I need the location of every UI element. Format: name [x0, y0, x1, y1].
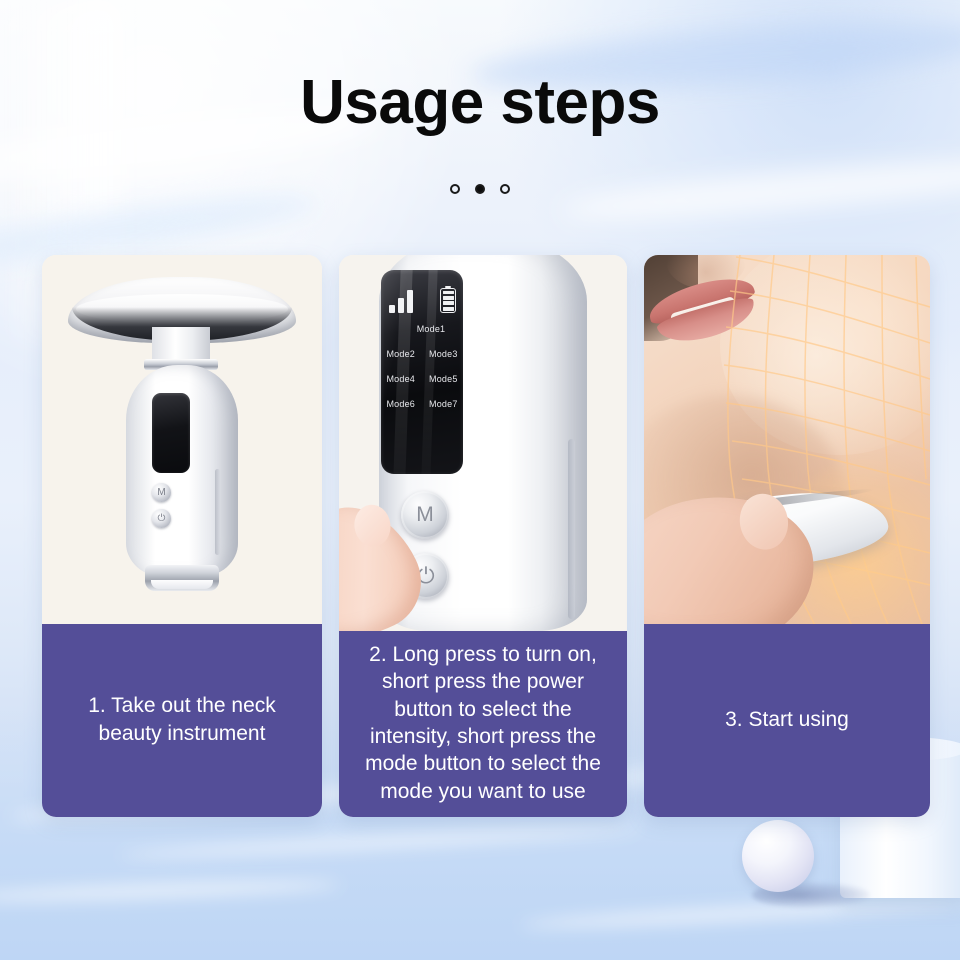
decorative-sphere: [742, 820, 814, 892]
step-2-caption-text: 2. Long press to turn on, short press th…: [365, 641, 601, 805]
device-side-groove: [215, 469, 220, 555]
power-button-icon[interactable]: ⏻: [152, 509, 171, 528]
mode-label-list: Mode1 Mode2 Mode3 Mode4 Mode5: [381, 324, 463, 424]
step-3-caption-text: 3. Start using: [725, 706, 849, 733]
neck-beauty-instrument-full: M ⏻: [82, 277, 282, 607]
step-card-2[interactable]: Mode1 Mode2 Mode3 Mode4 Mode5: [339, 255, 627, 817]
pagination-dot-1[interactable]: [450, 184, 460, 194]
mode-button[interactable]: M: [401, 491, 449, 539]
header: Usage steps: [0, 0, 960, 240]
pagination-dot-2-active[interactable]: [475, 184, 485, 194]
battery-icon: [440, 288, 456, 313]
mode-label-4: Mode4: [386, 374, 415, 384]
step-1-caption: 1. Take out the neck beauty instrument: [42, 624, 322, 817]
step-1-photo: M ⏻: [42, 255, 322, 624]
device-display-screen: Mode1 Mode2 Mode3 Mode4 Mode5: [381, 270, 463, 474]
step-card-1[interactable]: M ⏻ 1. Take out the neck beauty instrume…: [42, 255, 322, 817]
mode-row-3: Mode4 Mode5: [381, 374, 463, 384]
steps-card-row: M ⏻ 1. Take out the neck beauty instrume…: [42, 255, 930, 817]
battery-segment: [443, 301, 454, 305]
device-screen: [152, 393, 190, 473]
intensity-bar-3: [407, 290, 413, 313]
intensity-bars-icon: [389, 290, 413, 313]
mode-label-1: Mode1: [417, 324, 446, 334]
device-control-panel-closeup: Mode1 Mode2 Mode3 Mode4 Mode5: [345, 255, 621, 631]
pagination-dot-3[interactable]: [500, 184, 510, 194]
mode-button-icon[interactable]: M: [152, 483, 171, 502]
product-infographic: Usage steps M ⏻: [0, 0, 960, 960]
mode-label-2: Mode2: [386, 349, 415, 359]
device-side-groove: [568, 439, 575, 619]
mode-label-7: Mode7: [429, 399, 458, 409]
page-title: Usage steps: [0, 72, 960, 134]
step-3-caption: 3. Start using: [644, 624, 930, 817]
mode-label-3: Mode3: [429, 349, 458, 359]
mode-label-5: Mode5: [429, 374, 458, 384]
pagination-dots[interactable]: [0, 184, 960, 194]
device-base-ring: [145, 565, 219, 591]
intensity-bar-2: [398, 298, 404, 313]
mode-row-1: Mode1: [381, 324, 463, 334]
mode-label-6: Mode6: [386, 399, 415, 409]
intensity-bar-1: [389, 305, 395, 313]
battery-segment: [443, 291, 454, 295]
step-3-photo: [644, 255, 930, 624]
step-2-photo: Mode1 Mode2 Mode3 Mode4 Mode5: [339, 255, 627, 631]
mode-row-4: Mode6 Mode7: [381, 399, 463, 409]
step-2-caption: 2. Long press to turn on, short press th…: [339, 631, 627, 817]
display-status-row: [389, 287, 456, 313]
mode-row-2: Mode2 Mode3: [381, 349, 463, 359]
step-1-caption-text: 1. Take out the neck beauty instrument: [88, 692, 276, 747]
battery-segment: [443, 296, 454, 300]
battery-segment: [443, 307, 454, 311]
step-card-3[interactable]: 3. Start using: [644, 255, 930, 817]
device-body: M ⏻: [126, 365, 238, 577]
model-photo: [644, 255, 930, 624]
